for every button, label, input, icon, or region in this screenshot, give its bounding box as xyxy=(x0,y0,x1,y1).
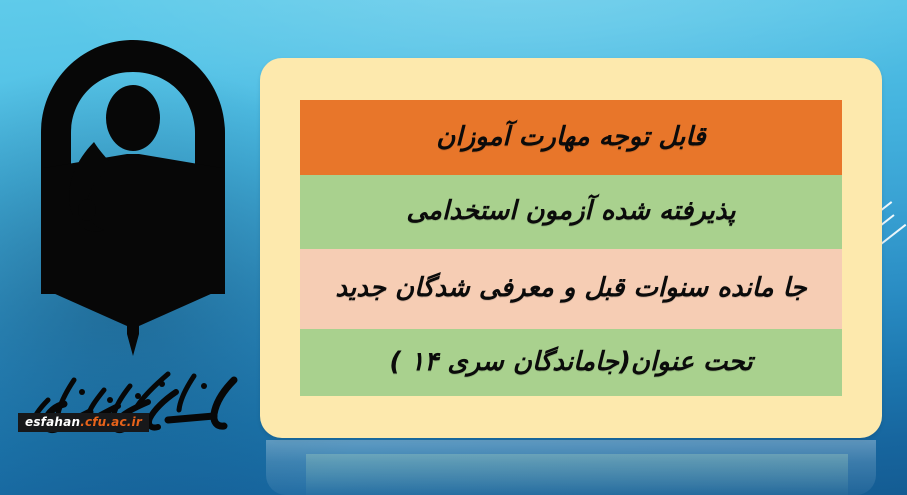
announcement-card: قابل توجه مهارت آموزان پذیرفته شده آزمون… xyxy=(260,58,882,438)
announcement-band-headline: قابل توجه مهارت آموزان xyxy=(300,100,842,175)
announcement-band-detail-text: جا مانده سنوات قبل و معرفی شدگان جدید xyxy=(335,272,806,306)
announcement-band-title-text: تحت عنوان(جاماندگان سری ۱۴ ) xyxy=(389,346,752,380)
card-reflection xyxy=(266,440,876,495)
watermark-site-name: esfahan xyxy=(25,415,80,429)
watermark-site-suffix: .cfu.ac.ir xyxy=(80,415,142,429)
site-watermark: esfahan.cfu.ac.ir xyxy=(18,413,149,432)
announcement-band-subject-text: پذیرفته شده آزمون استخدامی xyxy=(406,195,735,229)
announcement-band-headline-text: قابل توجه مهارت آموزان xyxy=(436,121,705,155)
announcement-slide: esfahan.cfu.ac.ir قابل توجه مهارت آموزان… xyxy=(0,0,907,495)
announcement-band-title: تحت عنوان(جاماندگان سری ۱۴ ) xyxy=(300,329,842,396)
card-reflection-inner xyxy=(306,454,848,495)
farhangian-university-emblem-icon xyxy=(24,34,242,364)
announcement-band-detail: جا مانده سنوات قبل و معرفی شدگان جدید xyxy=(300,249,842,329)
announcement-bands: قابل توجه مهارت آموزان پذیرفته شده آزمون… xyxy=(300,100,842,396)
university-logo: esfahan.cfu.ac.ir xyxy=(18,34,248,444)
announcement-band-subject: پذیرفته شده آزمون استخدامی xyxy=(300,175,842,249)
